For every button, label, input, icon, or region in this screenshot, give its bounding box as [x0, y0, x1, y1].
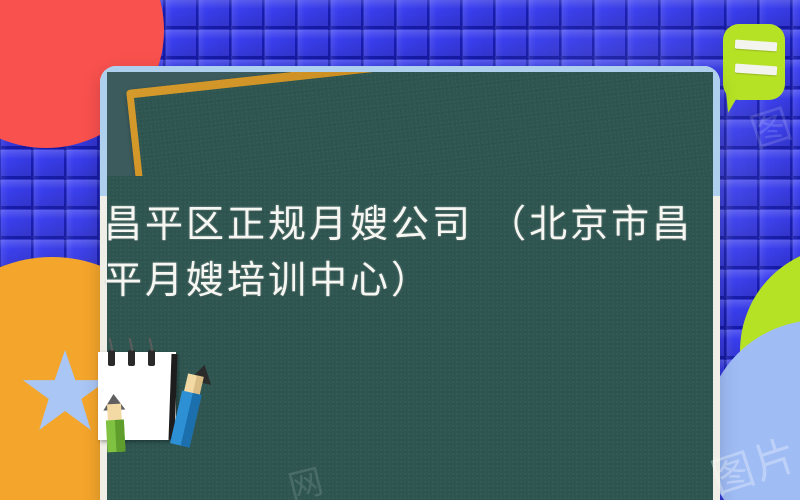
green-pencil [102, 393, 127, 452]
notepad-spiral-2 [128, 350, 135, 366]
poster-canvas: 图 昌平区正规月嫂公司 （北京市昌平月嫂培训中心） [0, 0, 800, 500]
notepad-spiral-1 [108, 350, 115, 366]
page-title: 昌平区正规月嫂公司 （北京市昌平月嫂培训中心） [104, 196, 704, 308]
speech-bubble-icon [723, 24, 785, 100]
notepad-spiral-3 [148, 350, 155, 366]
